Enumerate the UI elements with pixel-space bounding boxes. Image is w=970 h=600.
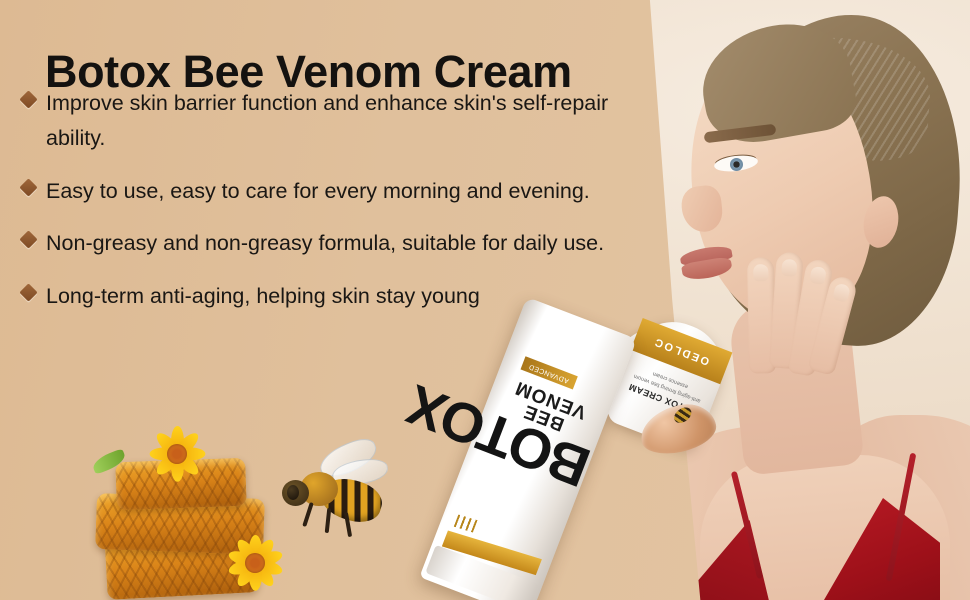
honeycomb-illustration <box>88 424 293 600</box>
benefit-text: Improve skin barrier function and enhanc… <box>46 86 646 156</box>
product-banner: Botox Bee Venom Cream Improve skin barri… <box>0 0 970 600</box>
diamond-bullet-icon <box>19 231 37 249</box>
benefit-text: Non-greasy and non-greasy formula, suita… <box>46 226 604 261</box>
bee-leg-front <box>302 502 314 527</box>
list-item: Non-greasy and non-greasy formula, suita… <box>22 226 652 261</box>
benefit-text: Easy to use, easy to care for every morn… <box>46 174 590 209</box>
bee-leg-mid <box>325 508 332 533</box>
diamond-bullet-icon <box>19 178 37 196</box>
list-item: Improve skin barrier function and enhanc… <box>22 86 652 156</box>
cream-bee-icon <box>671 404 694 426</box>
model-hand <box>737 222 862 413</box>
diamond-bullet-icon <box>19 284 37 302</box>
flower-core <box>167 444 187 464</box>
benefit-text: Long-term anti-aging, helping skin stay … <box>46 279 480 314</box>
list-item: Easy to use, easy to care for every morn… <box>22 174 652 209</box>
bee-illustration <box>276 446 388 550</box>
flower-top <box>140 424 214 484</box>
flower-core <box>245 553 265 573</box>
benefits-list: Improve skin barrier function and enhanc… <box>22 86 652 332</box>
diamond-bullet-icon <box>19 90 37 108</box>
bee-eye <box>287 485 299 500</box>
model-iris <box>730 158 743 171</box>
